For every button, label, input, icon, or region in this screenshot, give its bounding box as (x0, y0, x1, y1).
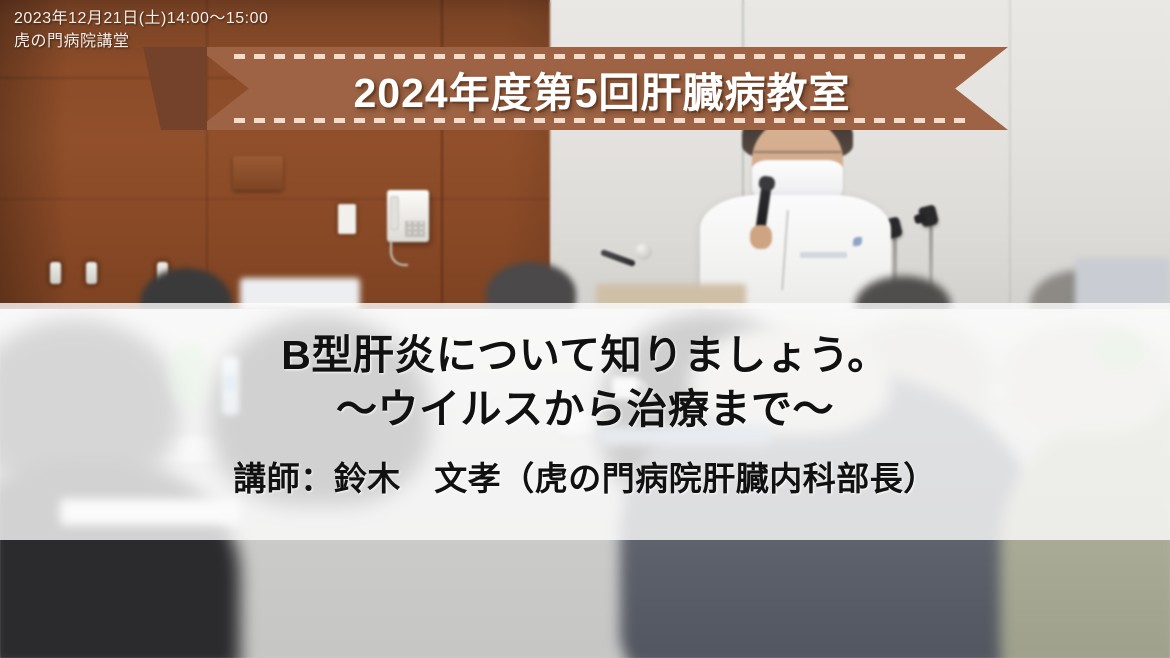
lecture-title-line-1: B型肝炎について知りましょう。 (0, 328, 1170, 382)
ribbon-dash-bottom (234, 118, 970, 123)
wall-plate-icon (233, 156, 283, 190)
coat-pocket (800, 252, 848, 258)
table-microphone-icon (635, 243, 652, 260)
main-title-block: B型肝炎について知りましょう。 〜ウイルスから治療まで〜 講師：鈴木 文孝（虎の… (0, 328, 1170, 501)
event-venue: 虎の門病院講堂 (14, 30, 268, 53)
lecturer-line: 講師：鈴木 文孝（虎の門病院肝臓内科部長） (0, 458, 1170, 501)
wall-telephone-icon (387, 190, 429, 242)
event-header: 2023年12月21日(土)14:00〜15:00 虎の門病院講堂 (14, 7, 268, 53)
light-switch-icon (50, 262, 61, 284)
ribbon-banner: 2024年度第5回肝臓病教室 (196, 47, 1008, 130)
speaker-figure (696, 118, 895, 309)
event-datetime: 2023年12月21日(土)14:00〜15:00 (14, 7, 268, 30)
banner-title: 2024年度第5回肝臓病教室 (353, 59, 850, 119)
light-switch-icon (86, 262, 97, 284)
wall-sign-icon (338, 204, 356, 234)
lecture-title-line-2: 〜ウイルスから治療まで〜 (0, 382, 1170, 436)
speaker-hand (750, 225, 772, 249)
seminar-slide: 2023年12月21日(土)14:00〜15:00 虎の門病院講堂 2024年度… (0, 0, 1170, 658)
hospital-logo-icon (853, 237, 862, 246)
